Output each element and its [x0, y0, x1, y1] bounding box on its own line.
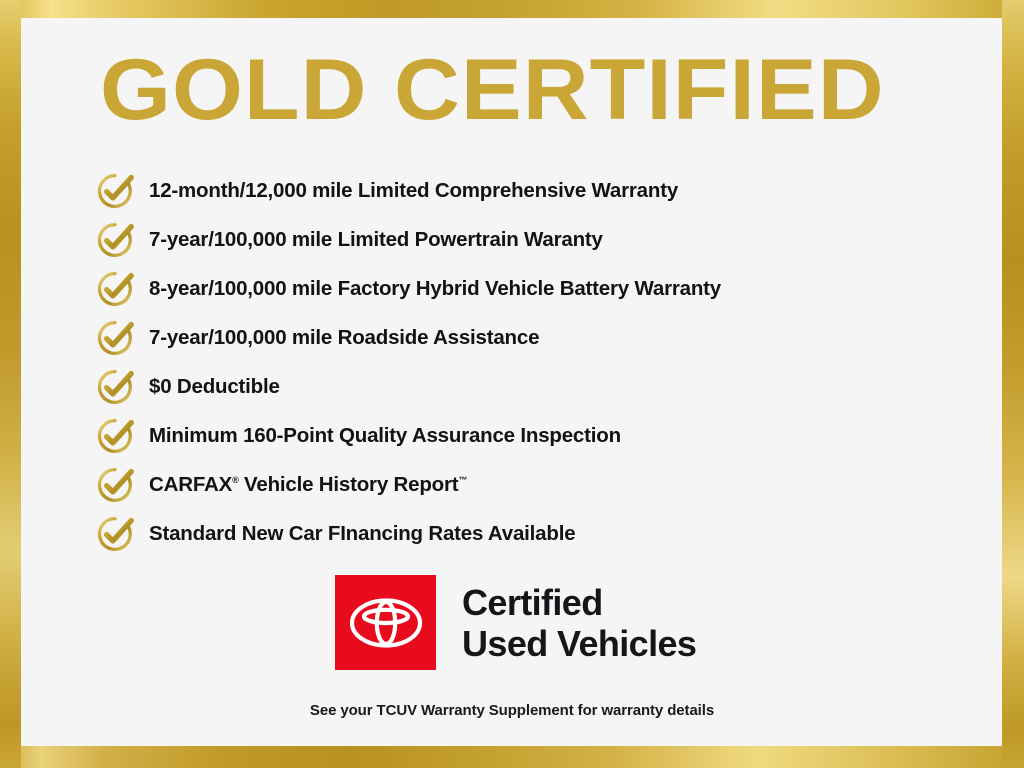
benefits-list: 12-month/12,000 mile Limited Comprehensi…	[95, 166, 955, 558]
carfax-wordmark: CARFAX	[149, 473, 232, 496]
gold-border-bottom	[0, 746, 1024, 768]
gold-certified-flyer: GOLD CERTIFIED 12-month/12,000 mile Limi…	[0, 0, 1024, 768]
gold-check-circle-icon	[95, 465, 139, 505]
toyota-logo-badge	[335, 575, 436, 670]
list-item: CARFAX® Vehicle History Report™	[95, 460, 955, 509]
list-item: 12-month/12,000 mile Limited Comprehensi…	[95, 166, 955, 215]
gold-check-circle-icon	[95, 416, 139, 456]
gold-check-circle-icon	[95, 367, 139, 407]
gold-check-circle-icon	[95, 514, 139, 554]
gold-border-right	[1002, 0, 1024, 768]
list-item: 8-year/100,000 mile Factory Hybrid Vehic…	[95, 264, 955, 313]
lockup-text: Certified Used Vehicles	[462, 582, 696, 664]
carfax-report-text: Vehicle History Report	[244, 473, 458, 496]
list-item: 7-year/100,000 mile Roadside Assistance	[95, 313, 955, 362]
list-item-label: Minimum 160-Point Quality Assurance Insp…	[149, 424, 621, 448]
list-item-label: 8-year/100,000 mile Factory Hybrid Vehic…	[149, 277, 721, 301]
toyota-certified-used-vehicles-lockup: Certified Used Vehicles	[335, 575, 696, 670]
list-item-label: 7-year/100,000 mile Limited Powertrain W…	[149, 228, 603, 252]
page-title: GOLD CERTIFIED	[100, 42, 980, 138]
gold-border-top	[0, 0, 1024, 18]
list-item: $0 Deductible	[95, 362, 955, 411]
gold-check-circle-icon	[95, 171, 139, 211]
lockup-line-1: Certified	[462, 582, 696, 623]
gold-check-circle-icon	[95, 318, 139, 358]
list-item-label: 12-month/12,000 mile Limited Comprehensi…	[149, 179, 678, 203]
trademark-mark: ™	[458, 475, 467, 485]
list-item-label: 7-year/100,000 mile Roadside Assistance	[149, 326, 539, 350]
gold-border-left	[0, 0, 21, 768]
gold-check-circle-icon	[95, 269, 139, 309]
lockup-line-2: Used Vehicles	[462, 623, 696, 664]
toyota-emblem-icon	[349, 597, 423, 649]
list-item: 7-year/100,000 mile Limited Powertrain W…	[95, 215, 955, 264]
list-item: Minimum 160-Point Quality Assurance Insp…	[95, 411, 955, 460]
list-item-label: $0 Deductible	[149, 375, 280, 399]
list-item-label: Standard New Car FInancing Rates Availab…	[149, 522, 575, 546]
gold-check-circle-icon	[95, 220, 139, 260]
warranty-footnote: See your TCUV Warranty Supplement for wa…	[0, 702, 1024, 719]
list-item: Standard New Car FInancing Rates Availab…	[95, 509, 955, 558]
list-item-label: CARFAX® Vehicle History Report™	[149, 473, 467, 497]
